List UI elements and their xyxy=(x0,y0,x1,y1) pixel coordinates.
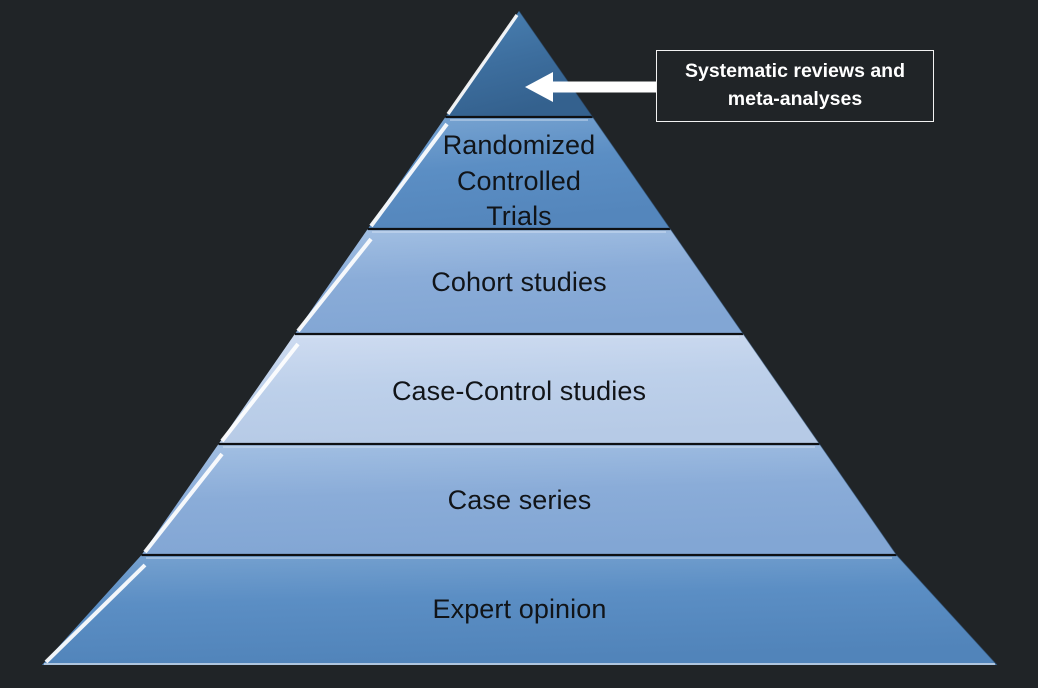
pyramid-tier-6-shape xyxy=(42,555,997,665)
callout-label: Systematic reviews and meta-analyses xyxy=(675,58,915,113)
pyramid-tier-5-shape xyxy=(142,444,897,555)
pyramid-tier-4-shape xyxy=(219,334,820,444)
diagram-canvas: Randomized Controlled Trials Cohort stud… xyxy=(0,0,1038,688)
callout-arrow xyxy=(525,72,657,102)
callout-box: Systematic reviews and meta-analyses xyxy=(656,50,934,122)
pyramid-tier-1-shape xyxy=(445,11,592,117)
pyramid-tier-2-shape xyxy=(368,117,671,229)
pyramid-tier-3-shape xyxy=(295,229,743,334)
